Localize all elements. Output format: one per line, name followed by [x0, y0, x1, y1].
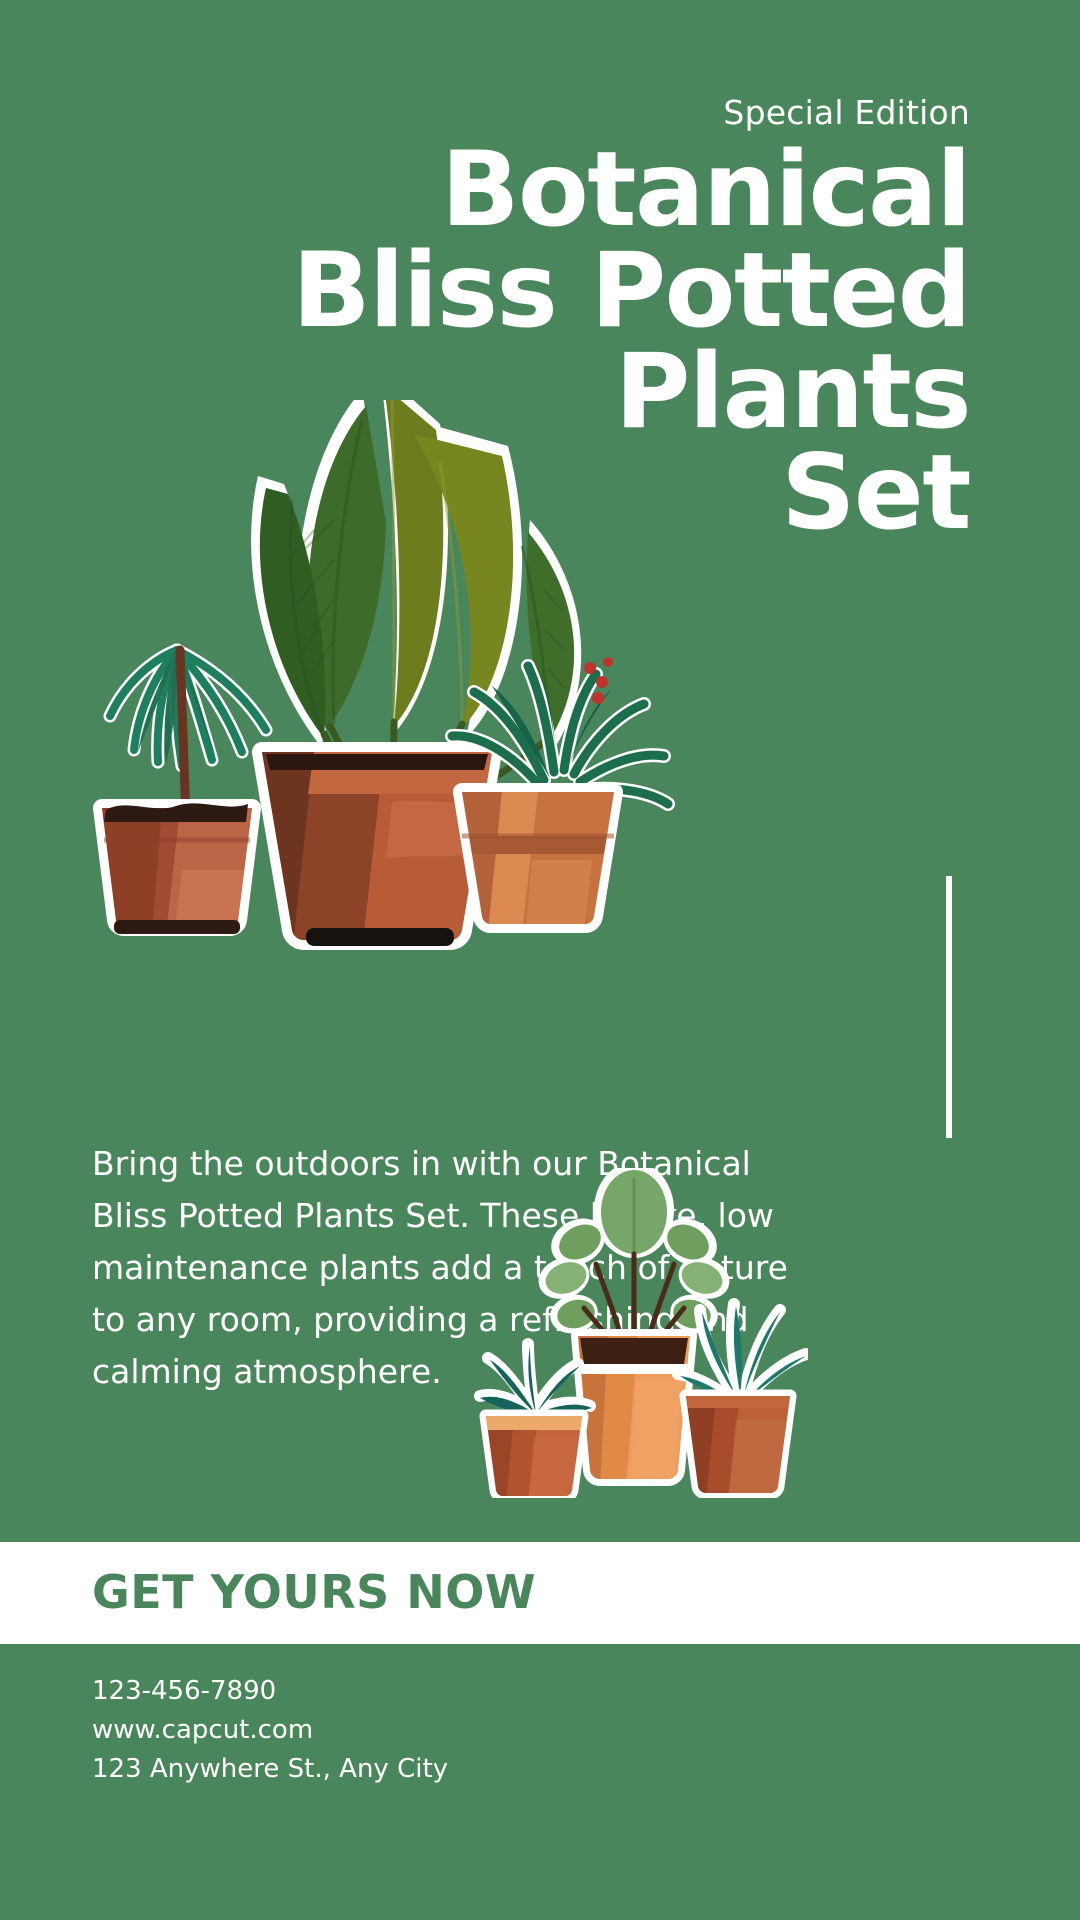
left-palm-plant — [94, 650, 266, 936]
get-yours-now-button[interactable]: GET YOURS NOW — [92, 1565, 536, 1619]
title-line-2: Bliss Potted — [0, 241, 970, 342]
poster-canvas: Special Edition Botanical Bliss Potted P… — [0, 0, 1080, 1920]
title-line-3: Plants — [0, 342, 970, 443]
contact-phone[interactable]: 123-456-7890 — [92, 1672, 448, 1711]
vertical-divider — [946, 876, 952, 1138]
contact-address: 123 Anywhere St., Any City — [92, 1750, 448, 1789]
page-title: Botanical Bliss Potted Plants Set — [0, 140, 970, 544]
contact-block: 123-456-7890 www.capcut.com 123 Anywhere… — [92, 1672, 448, 1789]
title-line-1: Botanical — [0, 140, 970, 241]
title-line-4: Set — [0, 443, 970, 544]
eyebrow-label: Special Edition — [0, 93, 970, 132]
footer-potted-plants-illustration — [468, 1168, 808, 1498]
contact-website[interactable]: www.capcut.com — [92, 1711, 448, 1750]
footer-left-plant — [478, 1344, 592, 1498]
